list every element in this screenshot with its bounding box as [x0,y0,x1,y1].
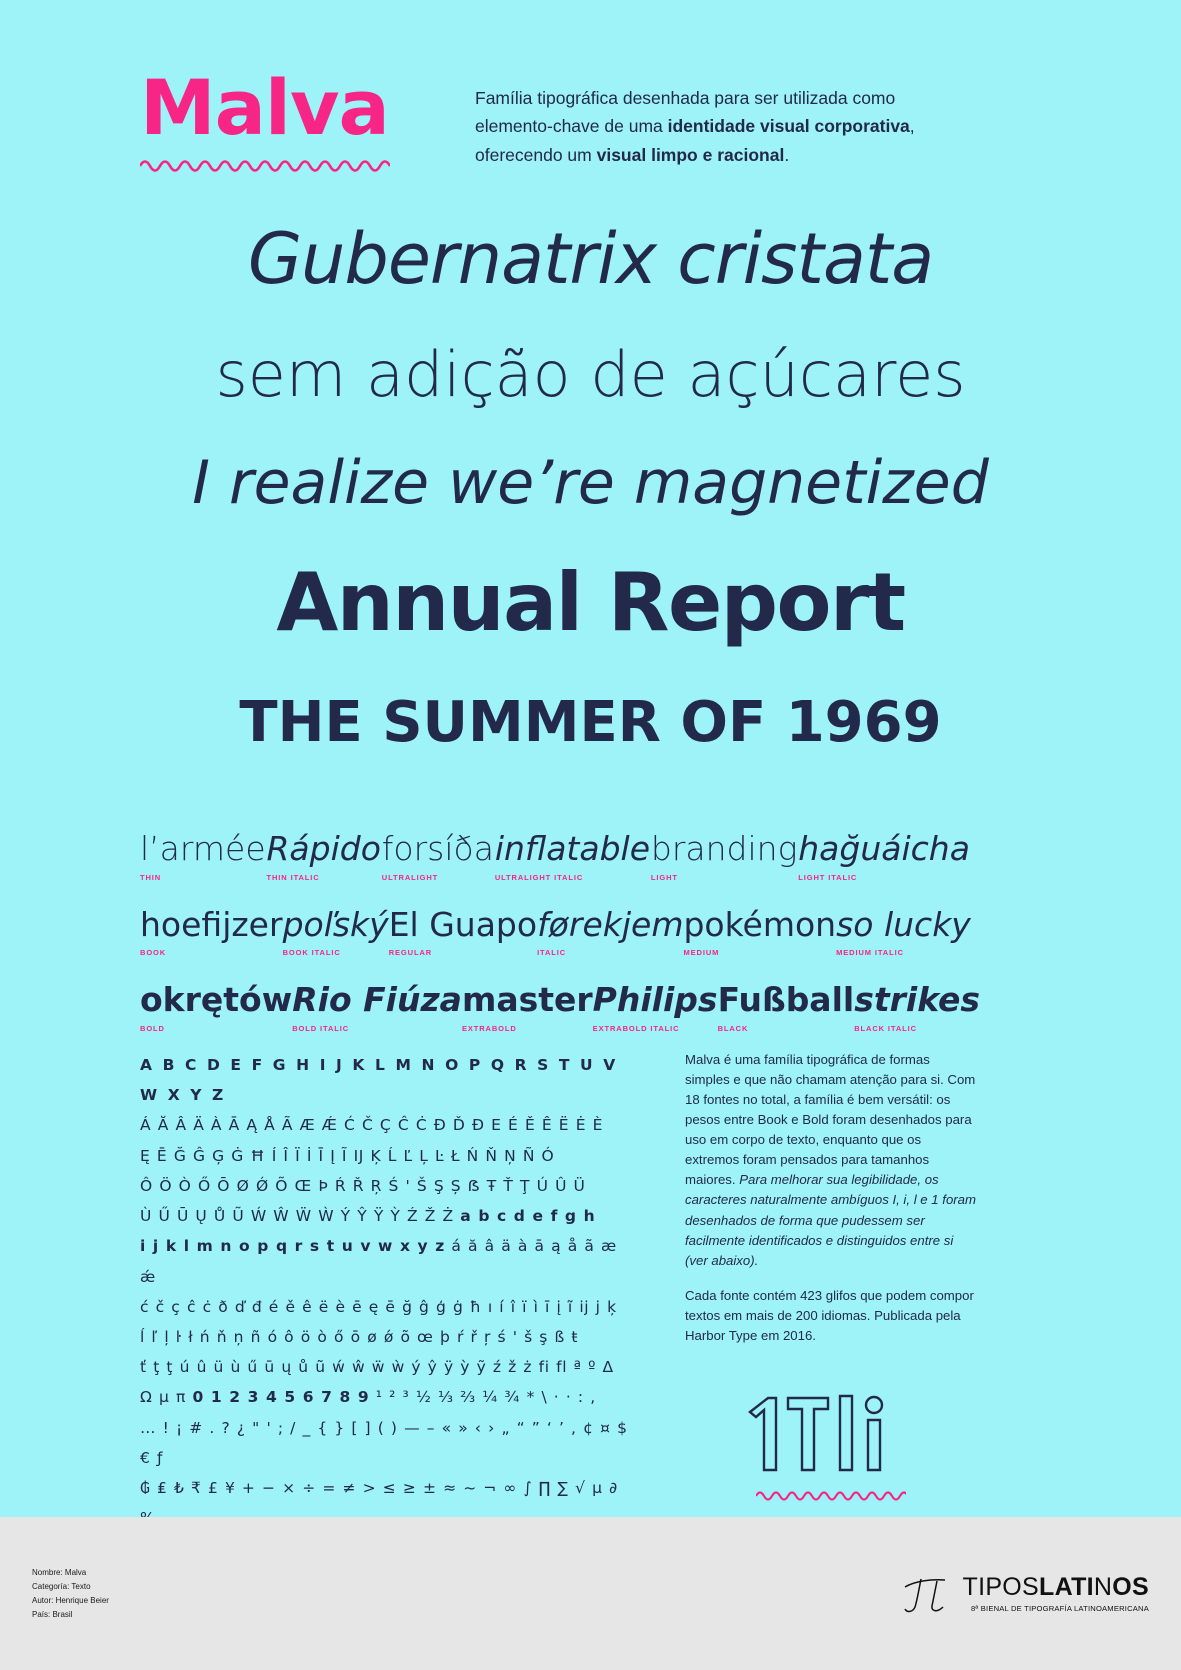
right-column: Malva é uma família tipográfica de forma… [685,1050,977,1564]
glyph-line-uppercase: A B C D E F G H I J K L M N O P Q R S T … [140,1050,630,1110]
weight-label: BLACK [718,1024,855,1033]
weight-item: RápidoTHIN ITALIC [267,832,381,882]
weight-label: BOLD [140,1024,292,1033]
weight-item: l’arméeTHIN [140,832,266,882]
weight-sample: branding [651,832,798,867]
weight-label: BOOK [140,948,283,957]
tiposlatinos-wordmark: TIPOSLATINOS 8ª BIENAL DE TIPOGRAFÍA LAT… [963,1575,1150,1613]
weight-item: PhilipsEXTRABOLD ITALIC [593,983,718,1033]
glyph-line-10-greek: Ω μ π [140,1388,186,1406]
weight-sample: Rápido [267,832,381,867]
credit-author: Autor: Henrique Beier [32,1594,109,1608]
brand-block: Malva [140,72,485,177]
tl-monogram-icon [901,1573,953,1615]
weight-item: strikesBLACK ITALIC [854,983,980,1033]
glyph-line-10-digits: 0 1 2 3 4 5 6 7 8 9 [192,1388,369,1406]
weight-item: hoefijzerBOOK [140,908,283,958]
poster-header: Malva Família tipográfica desenhada para… [0,72,1181,177]
weight-sample: master [462,983,593,1018]
weight-item: FußballBLACK [718,983,855,1033]
weight-label: EXTRABOLD [462,1024,593,1033]
intro-highlight-2: visual limpo e racional [597,145,785,165]
weight-sample: hağuáicha [798,832,970,867]
description-p1-roman: Malva é uma família tipográfica de forma… [685,1052,975,1187]
weight-item: pokémonMEDIUM [683,908,836,958]
weight-label: LIGHT [651,873,798,882]
weight-sample: inflatable [495,832,650,867]
weight-row-light: l’arméeTHIN RápidoTHIN ITALIC forsíðaULT… [140,832,970,882]
specimen-line-5: THE SUMMER OF 1969 [0,690,1181,755]
specimen-line-1: Gubernatrix cristata [0,218,1181,300]
weight-label: REGULAR [389,948,537,957]
weight-item: hağuáichaLIGHT ITALIC [798,832,970,882]
weight-item: El GuapoREGULAR [389,908,537,958]
credit-country: País: Brasil [32,1608,109,1622]
weight-item: poľskýBOOK ITALIC [283,908,389,958]
page-title: Malva [140,72,485,144]
weight-sample: forsíða [382,832,494,867]
weight-label: ULTRALIGHT [382,873,494,882]
intro-highlight-1: identidade visual corporativa [668,116,910,136]
weight-label: MEDIUM ITALIC [836,948,971,957]
glyph-chart: A B C D E F G H I J K L M N O P Q R S T … [140,1050,630,1564]
description-block: Malva é uma família tipográfica de forma… [685,1050,977,1346]
specimen-line-3: I realize we’re magnetized [0,448,1181,518]
weight-item: inflatableULTRALIGHT ITALIC [495,832,650,882]
intro-line-2-c: , [910,116,915,136]
poster-canvas: Malva Família tipográfica desenhada para… [0,0,1181,1670]
glyph-line-4: Ô Ö Ò Ő Ō Ø Ǿ Õ Œ Þ Ŕ Ř Ŗ Ś ' Š Ş Ș ẞ Ŧ … [140,1171,630,1201]
weight-item: so luckyMEDIUM ITALIC [836,908,971,958]
weight-label: EXTRABOLD ITALIC [593,1024,718,1033]
glyph-line-8: ĺ ľ ļ ŀ ł ń ň ņ ñ ó ô ö ò ő ō ø ǿ õ œ þ … [140,1322,630,1352]
glyph-line-6: i j k l m n o p q r s t u v w x y z á ă … [140,1231,630,1291]
glyph-line-11: … ! ¡ # . ? ¿ " ' ; / _ { } [ ] ( ) — – … [140,1413,630,1473]
weight-label: BOLD ITALIC [292,1024,462,1033]
weight-specimen-table: l’arméeTHIN RápidoTHIN ITALIC forsíðaULT… [140,832,970,1033]
weight-label: ULTRALIGHT ITALIC [495,873,650,882]
glyph-line-2: Á Ă Â Ä À Ā Ą Å Ã Æ Ǽ Ć Č Ç Ĉ Ċ Ð Ď Ɖ E … [140,1110,630,1140]
weight-item: brandingLIGHT [651,832,798,882]
weight-label: BLACK ITALIC [854,1024,980,1033]
intro-line-1: Família tipográfica desenhada para ser u… [475,88,895,108]
weight-sample: førekjem [537,908,683,943]
weight-sample: Fußball [718,983,855,1018]
weight-sample: poľský [283,908,389,943]
weight-sample: hoefijzer [140,908,283,943]
weight-sample: okrętów [140,983,292,1018]
glyph-line-9: ť ţ ţ ú û ü ù ű ū ų ů ũ ẃ ŵ ẅ ẁ ý ŷ ÿ ỳ … [140,1352,630,1382]
weight-item: okrętówBOLD [140,983,292,1033]
weight-sample: Philips [593,983,718,1018]
lower-section: A B C D E F G H I J K L M N O P Q R S T … [0,1050,1181,1564]
description-paragraph-1: Malva é uma família tipográfica de forma… [685,1050,977,1271]
weight-label: BOOK ITALIC [283,948,389,957]
logo-n: N [1094,1573,1112,1601]
weight-label: ITALIC [537,948,683,957]
credit-category: Categoría: Texto [32,1580,109,1594]
glyph-line-3: Ę Ē Ğ Ĝ Ģ Ġ Ħ Í Î Ï İ Ī Į Ĩ IJ Ķ Ĺ Ľ Ļ Ŀ… [140,1141,630,1171]
wave-underline-icon [140,156,390,172]
description-paragraph-2: Cada fonte contém 423 glifos que podem c… [685,1286,977,1346]
weight-item: masterEXTRABOLD [462,983,593,1033]
weight-sample: pokémon [683,908,836,943]
weight-sample: Rio Fiúza [292,983,462,1018]
tiposlatinos-subtitle: 8ª BIENAL DE TIPOGRAFÍA LATINOAMERICANA [963,1604,1150,1613]
glyph-line-10-fractions: ¹ ² ³ ½ ⅓ ⅔ ¼ ¾ * \ · · : , [376,1388,596,1406]
intro-paragraph: Família tipográfica desenhada para ser u… [475,72,985,169]
wave-divider-icon [756,1488,906,1502]
credit-name: Nombre: Malva [32,1566,109,1580]
weight-item: forsíðaULTRALIGHT [382,832,494,882]
weight-sample: strikes [854,983,980,1018]
weight-label: LIGHT ITALIC [798,873,970,882]
weight-sample: so lucky [836,908,971,943]
intro-line-2-a: elemento-chave de uma [475,116,668,136]
weight-item: førekjemITALIC [537,908,683,958]
logo-lati: LATI [1039,1573,1094,1601]
tiposlatinos-logo: TIPOSLATINOS 8ª BIENAL DE TIPOGRAFÍA LAT… [901,1573,1150,1615]
glyph-line-5: Ù Ű Ū Ų Ů Ũ Ẃ Ŵ Ẅ Ẁ Ý Ŷ Ÿ Ỳ Ź Ž Ż a b c … [140,1201,630,1231]
glyph-line-6-lower: i j k l m n o p q r s t u v w x y z [140,1237,445,1255]
ambiguous-glyphs-outline [685,1390,977,1478]
weight-row-regular: hoefijzerBOOK poľskýBOOK ITALIC El Guapo… [140,908,970,958]
logo-tipos: TIPOS [963,1573,1040,1601]
glyph-line-10: Ω μ π 0 1 2 3 4 5 6 7 8 9 ¹ ² ³ ½ ⅓ ⅔ ¼ … [140,1382,630,1412]
specimen-line-2: sem adição de açúcares [0,338,1181,411]
weight-label: THIN ITALIC [267,873,381,882]
intro-line-3-a: oferecendo um [475,145,597,165]
one-I-l-i-outline-icon [744,1390,919,1478]
tiposlatinos-name: TIPOSLATINOS [963,1575,1150,1600]
weight-item: Rio FiúzaBOLD ITALIC [292,983,462,1033]
glyph-line-7: ć č ç ĉ ċ ð ď đ é ě ê ë è ē ę ē ğ ĝ ģ ġ … [140,1292,630,1322]
weight-row-bold: okrętówBOLD Rio FiúzaBOLD ITALIC masterE… [140,983,970,1033]
weight-label: MEDIUM [683,948,836,957]
glyph-line-5-lower: a b c d e f g h [460,1207,595,1225]
weight-label: THIN [140,873,266,882]
weight-sample: l’armée [140,832,266,867]
glyph-line-5-caps: Ù Ű Ū Ų Ů Ũ Ẃ Ŵ Ẅ Ẁ Ý Ŷ Ÿ Ỳ Ź Ž Ż [140,1207,454,1225]
logo-os: OS [1112,1573,1149,1601]
credits-block: Nombre: Malva Categoría: Texto Autor: He… [32,1566,109,1622]
poster-footer: Nombre: Malva Categoría: Texto Autor: He… [0,1517,1181,1670]
specimen-line-4: Annual Report [0,556,1181,649]
weight-sample: El Guapo [389,908,537,943]
intro-line-3-c: . [784,145,789,165]
